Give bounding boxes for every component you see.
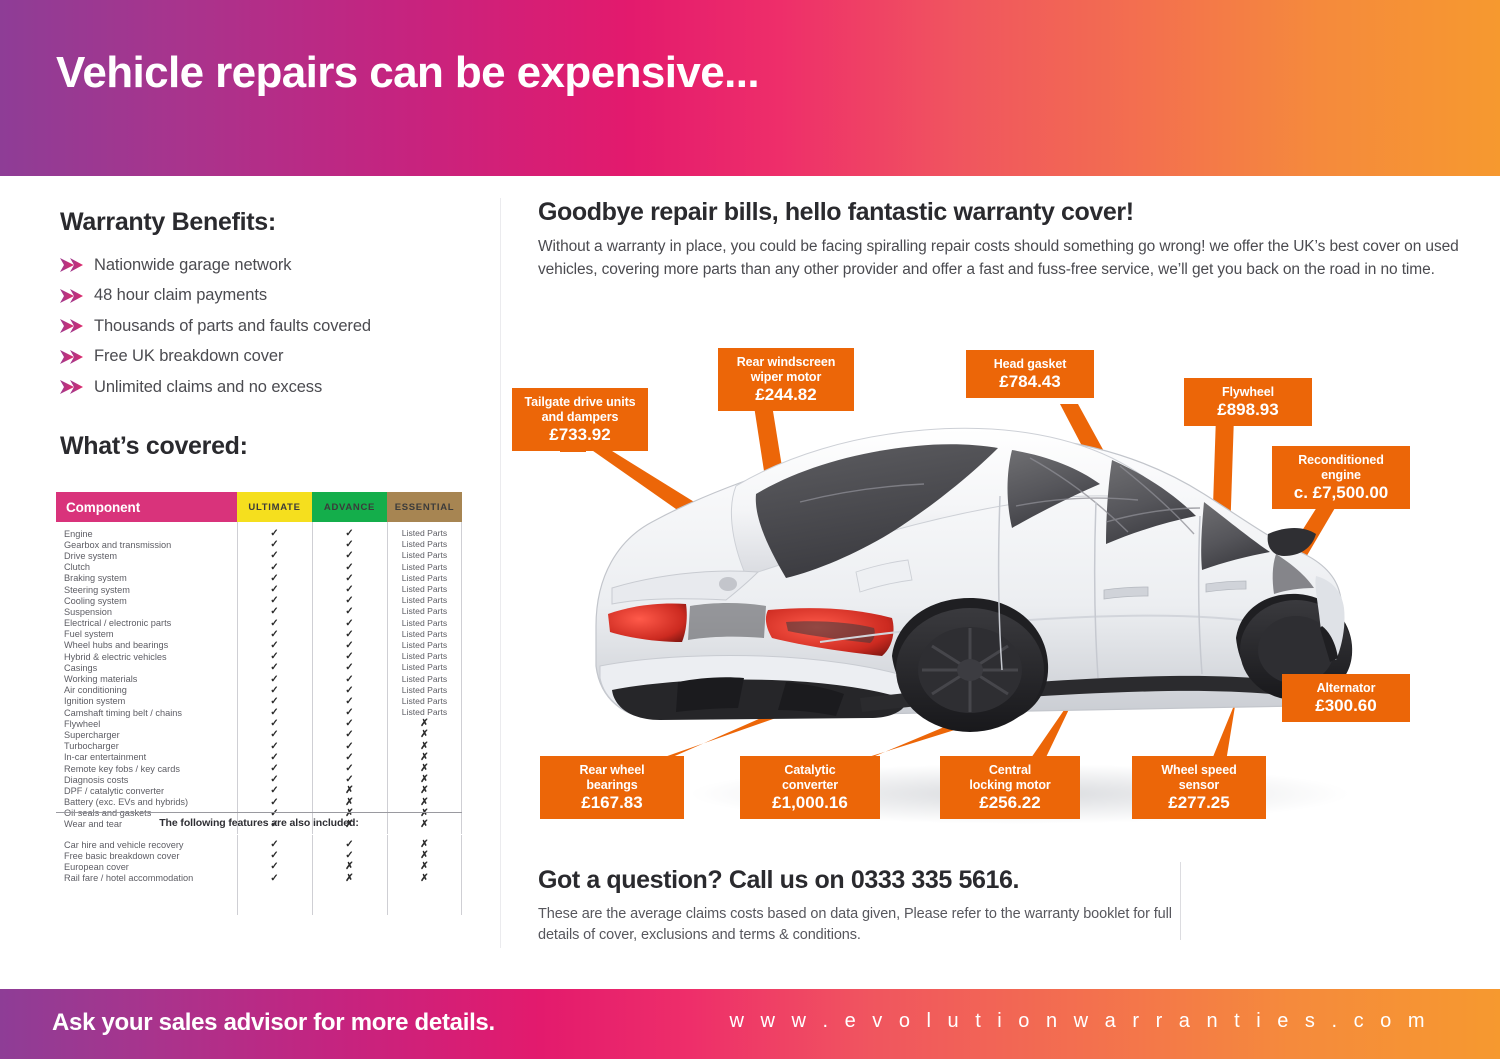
cell-component: Working materials — [56, 674, 237, 684]
cell-essential: Listed Parts — [387, 539, 462, 550]
callout-flywheel[interactable]: Flywheel£898.93 — [1184, 378, 1312, 426]
cell-ultimate: ✓ — [237, 629, 312, 640]
callout-head-gasket[interactable]: Head gasket£784.43 — [966, 350, 1094, 398]
callout-label-line: locking motor — [969, 778, 1050, 792]
warranty-benefits-heading: Warranty Benefits: — [60, 208, 276, 237]
benefit-item: Free UK breakdown cover — [58, 342, 478, 373]
warranty-benefits-list: Nationwide garage network48 hour claim p… — [58, 250, 478, 403]
cell-ultimate: ✓ — [237, 785, 312, 796]
benefit-item: Nationwide garage network — [58, 250, 478, 281]
callout-wheel-speed-sensor[interactable]: Wheel speedsensor£277.25 — [1132, 756, 1266, 819]
coverage-table: Component ULTIMATE ADVANCE ESSENTIAL Eng… — [56, 492, 462, 830]
table-row: Supercharger✓✓✗ — [56, 729, 462, 740]
cell-ultimate: ✓ — [237, 850, 312, 861]
cell-component: Steering system — [56, 585, 237, 595]
cell-advance: ✓ — [312, 774, 387, 785]
cell-ultimate: ✓ — [237, 729, 312, 740]
cell-essential: Listed Parts — [387, 550, 462, 561]
table-row: Steering system✓✓Listed Parts — [56, 584, 462, 595]
cell-advance: ✓ — [312, 662, 387, 673]
table-row: Air conditioning✓✓Listed Parts — [56, 685, 462, 696]
table-section-separator — [56, 812, 462, 813]
callout-label-line: Reconditioned — [1298, 453, 1384, 467]
table-divider — [461, 522, 462, 834]
cell-advance: ✓ — [312, 562, 387, 573]
cell-component: Casings — [56, 663, 237, 673]
cell-ultimate: ✓ — [237, 696, 312, 707]
table-divider — [312, 522, 313, 834]
cell-component: Fuel system — [56, 629, 237, 639]
column-header-essential: ESSENTIAL — [387, 492, 462, 522]
cell-component: Turbocharger — [56, 741, 237, 751]
also-included-title: The following features are also included… — [56, 817, 462, 829]
callout-rear-wheel-bearings[interactable]: Rear wheelbearings£167.83 — [540, 756, 684, 819]
callout-amount: £733.92 — [524, 427, 636, 442]
cell-ultimate: ✓ — [237, 550, 312, 561]
cell-component: Camshaft timing belt / chains — [56, 708, 237, 718]
cell-essential: ✗ — [387, 763, 462, 774]
table-row: European cover✓✗✗ — [56, 861, 462, 872]
benefit-label: Nationwide garage network — [94, 256, 291, 275]
cell-essential: ✗ — [387, 741, 462, 752]
chevron-right-icon — [58, 288, 84, 304]
cell-component: Engine — [56, 529, 237, 539]
cell-advance: ✓ — [312, 685, 387, 696]
cell-component: Flywheel — [56, 719, 237, 729]
callout-label-line: and dampers — [542, 410, 619, 424]
cell-essential: Listed Parts — [387, 562, 462, 573]
cell-component: Gearbox and transmission — [56, 540, 237, 550]
callout-catalytic-converter[interactable]: Catalyticconverter£1,000.16 — [740, 756, 880, 819]
table-row: Working materials✓✓Listed Parts — [56, 673, 462, 684]
callout-alternator[interactable]: Alternator£300.60 — [1282, 674, 1410, 722]
cell-component: In-car entertainment — [56, 752, 237, 762]
callout-label-line: Rear wheel — [579, 763, 644, 777]
cell-ultimate: ✓ — [237, 651, 312, 662]
goodbye-heading: Goodbye repair bills, hello fantastic wa… — [538, 198, 1134, 227]
cell-essential: Listed Parts — [387, 662, 462, 673]
benefit-label: Free UK breakdown cover — [94, 347, 283, 366]
table-row: Ignition system✓✓Listed Parts — [56, 696, 462, 707]
cell-advance: ✓ — [312, 718, 387, 729]
table-row: Turbocharger✓✓✗ — [56, 741, 462, 752]
cell-component: Ignition system — [56, 696, 237, 706]
cell-essential: ✗ — [387, 785, 462, 796]
cell-ultimate: ✓ — [237, 718, 312, 729]
cell-advance: ✓ — [312, 606, 387, 617]
cell-component: Electrical / electronic parts — [56, 618, 237, 628]
cell-component: Free basic breakdown cover — [56, 851, 237, 861]
coverage-table-header-row: Component ULTIMATE ADVANCE ESSENTIAL — [56, 492, 462, 522]
chevron-right-icon — [58, 379, 84, 395]
table-divider — [237, 522, 238, 834]
car-illustration — [500, 326, 1500, 1016]
cell-essential: Listed Parts — [387, 595, 462, 606]
callout-label-line: Tailgate drive units — [525, 395, 636, 409]
coverage-table-body: Engine✓✓Listed PartsGearbox and transmis… — [56, 522, 462, 830]
cell-component: Diagnosis costs — [56, 775, 237, 785]
cell-advance: ✓ — [312, 752, 387, 763]
cell-essential: Listed Parts — [387, 707, 462, 718]
cell-component: Cooling system — [56, 596, 237, 606]
cell-advance: ✓ — [312, 550, 387, 561]
cell-ultimate: ✓ — [237, 752, 312, 763]
cell-essential: ✗ — [387, 752, 462, 763]
cell-ultimate: ✓ — [237, 873, 312, 884]
cell-advance: ✓ — [312, 595, 387, 606]
cell-ultimate: ✓ — [237, 595, 312, 606]
cell-essential: ✗ — [387, 729, 462, 740]
table-row: Flywheel✓✓✗ — [56, 718, 462, 729]
cell-component: European cover — [56, 862, 237, 872]
car-diagram-stage: Tailgate drive unitsand dampers£733.92 R… — [500, 326, 1500, 1016]
table-row: Battery (exc. EVs and hybrids)✓✗✗ — [56, 797, 462, 808]
cell-advance: ✓ — [312, 629, 387, 640]
cell-essential: Listed Parts — [387, 674, 462, 685]
benefit-item: Thousands of parts and faults covered — [58, 311, 478, 342]
cell-ultimate: ✓ — [237, 573, 312, 584]
cell-ultimate: ✓ — [237, 662, 312, 673]
table-row: Remote key fobs / key cards✓✓✗ — [56, 763, 462, 774]
chevron-right-icon — [58, 257, 84, 273]
cell-ultimate: ✓ — [237, 741, 312, 752]
footer-sales-advisor-text: Ask your sales advisor for more details. — [52, 1009, 495, 1037]
callout-label-line: engine — [1321, 468, 1361, 482]
cell-component: Clutch — [56, 562, 237, 572]
cell-ultimate: ✓ — [237, 584, 312, 595]
cell-advance: ✓ — [312, 674, 387, 685]
cell-essential: ✗ — [387, 718, 462, 729]
callout-label-line: converter — [782, 778, 838, 792]
cell-advance: ✓ — [312, 763, 387, 774]
cell-essential: ✗ — [387, 861, 462, 872]
cell-component: Rail fare / hotel accommodation — [56, 873, 237, 883]
callout-rear-windscreen-wiper-motor[interactable]: Rear windscreenwiper motor£244.82 — [718, 348, 854, 411]
callout-label-line: sensor — [1179, 778, 1219, 792]
also-included-table-body: Car hire and vehicle recovery✓✓✗Free bas… — [56, 835, 462, 884]
cell-ultimate: ✓ — [237, 539, 312, 550]
benefit-label: Unlimited claims and no excess — [94, 378, 322, 397]
cell-essential: Listed Parts — [387, 685, 462, 696]
cell-component: Air conditioning — [56, 685, 237, 695]
callout-label-line: Flywheel — [1222, 385, 1274, 399]
cell-essential: ✗ — [387, 774, 462, 785]
cell-component: Drive system — [56, 551, 237, 561]
table-divider — [387, 522, 388, 834]
table-row: Braking system✓✓Listed Parts — [56, 573, 462, 584]
goodbye-body-text: Without a warranty in place, you could b… — [538, 236, 1463, 281]
cell-essential: ✗ — [387, 797, 462, 808]
table-row: Wheel hubs and bearings✓✓Listed Parts — [56, 640, 462, 651]
table-divider — [237, 835, 238, 915]
cell-advance: ✓ — [312, 696, 387, 707]
table-row: Engine✓✓Listed Parts — [56, 528, 462, 539]
cell-component: Suspension — [56, 607, 237, 617]
table-row: Fuel system✓✓Listed Parts — [56, 629, 462, 640]
table-row: Clutch✓✓Listed Parts — [56, 562, 462, 573]
cell-advance: ✓ — [312, 539, 387, 550]
callout-amount: £1,000.16 — [752, 795, 868, 810]
table-row: Rail fare / hotel accommodation✓✗✗ — [56, 873, 462, 884]
cell-essential: ✗ — [387, 850, 462, 861]
table-row: DPF / catalytic converter✓✗✗ — [56, 785, 462, 796]
cell-essential: Listed Parts — [387, 606, 462, 617]
chevron-right-icon — [58, 349, 84, 365]
benefit-item: 48 hour claim payments — [58, 281, 478, 312]
also-included-table: Car hire and vehicle recovery✓✓✗Free bas… — [56, 835, 462, 884]
callout-label-line: Head gasket — [994, 357, 1067, 371]
cell-component: Braking system — [56, 573, 237, 583]
cell-essential: Listed Parts — [387, 618, 462, 629]
cell-advance: ✓ — [312, 729, 387, 740]
cell-essential: Listed Parts — [387, 696, 462, 707]
cell-ultimate: ✓ — [237, 618, 312, 629]
cell-ultimate: ✓ — [237, 674, 312, 685]
table-row: Diagnosis costs✓✓✗ — [56, 774, 462, 785]
callout-label-line: Rear windscreen — [737, 355, 836, 369]
callout-tailgate-drive-units[interactable]: Tailgate drive unitsand dampers£733.92 — [512, 388, 648, 451]
table-row: Free basic breakdown cover✓✓✗ — [56, 850, 462, 861]
callout-label-line: wiper motor — [751, 370, 821, 384]
cell-advance: ✗ — [312, 785, 387, 796]
cell-ultimate: ✓ — [237, 797, 312, 808]
callout-amount: £300.60 — [1294, 698, 1398, 713]
cell-ultimate: ✓ — [237, 774, 312, 785]
cell-advance: ✓ — [312, 651, 387, 662]
cell-component: Supercharger — [56, 730, 237, 740]
column-header-component: Component — [56, 492, 237, 522]
column-header-ultimate: ULTIMATE — [237, 492, 312, 522]
page-title: Vehicle repairs can be expensive... — [56, 48, 759, 98]
whats-covered-heading: What’s covered: — [60, 432, 248, 461]
left-column: Warranty Benefits: Nationwide garage net… — [0, 176, 500, 989]
callout-central-locking-motor[interactable]: Centrallocking motor£256.22 — [940, 756, 1080, 819]
column-header-advance: ADVANCE — [312, 492, 387, 522]
callout-amount: £244.82 — [730, 387, 842, 402]
callout-amount: £898.93 — [1196, 402, 1300, 417]
cell-component: Hybrid & electric vehicles — [56, 652, 237, 662]
cell-advance: ✗ — [312, 873, 387, 884]
cell-advance: ✗ — [312, 797, 387, 808]
cell-essential: ✗ — [387, 839, 462, 850]
cell-ultimate: ✓ — [237, 707, 312, 718]
cell-essential: ✗ — [387, 873, 462, 884]
table-row: Cooling system✓✓Listed Parts — [56, 595, 462, 606]
cell-advance: ✓ — [312, 618, 387, 629]
callout-label-line: Wheel speed — [1161, 763, 1236, 777]
cell-advance: ✓ — [312, 839, 387, 850]
callout-reconditioned-engine[interactable]: Reconditionedenginec. £7,500.00 — [1272, 446, 1410, 509]
chevron-right-icon — [58, 318, 84, 334]
cell-ultimate: ✓ — [237, 685, 312, 696]
table-row: Camshaft timing belt / chains✓✓Listed Pa… — [56, 707, 462, 718]
cell-ultimate: ✓ — [237, 763, 312, 774]
cell-advance: ✓ — [312, 584, 387, 595]
table-row: Suspension✓✓Listed Parts — [56, 606, 462, 617]
callout-amount: c. £7,500.00 — [1284, 485, 1398, 500]
callout-amount: £277.25 — [1144, 795, 1254, 810]
benefit-label: 48 hour claim payments — [94, 286, 267, 305]
callout-amount: £167.83 — [552, 795, 672, 810]
table-row: Casings✓✓Listed Parts — [56, 662, 462, 673]
cell-advance: ✓ — [312, 528, 387, 539]
cell-essential: Listed Parts — [387, 573, 462, 584]
callout-label-line: Alternator — [1317, 681, 1376, 695]
cell-component: Battery (exc. EVs and hybrids) — [56, 797, 237, 807]
cell-component: DPF / catalytic converter — [56, 786, 237, 796]
cell-ultimate: ✓ — [237, 640, 312, 651]
table-row: In-car entertainment✓✓✗ — [56, 752, 462, 763]
table-row: Hybrid & electric vehicles✓✓Listed Parts — [56, 651, 462, 662]
cell-ultimate: ✓ — [237, 528, 312, 539]
callout-amount: £256.22 — [952, 795, 1068, 810]
callout-amount: £784.43 — [978, 374, 1082, 389]
cell-advance: ✓ — [312, 640, 387, 651]
table-row: Drive system✓✓Listed Parts — [56, 550, 462, 561]
cell-component: Wheel hubs and bearings — [56, 640, 237, 650]
table-divider — [461, 835, 462, 915]
cell-essential: Listed Parts — [387, 528, 462, 539]
callout-label-line: Central — [989, 763, 1031, 777]
callout-label-line: Catalytic — [784, 763, 835, 777]
table-divider — [387, 835, 388, 915]
cell-component: Remote key fobs / key cards — [56, 764, 237, 774]
cell-advance: ✓ — [312, 741, 387, 752]
cell-essential: Listed Parts — [387, 584, 462, 595]
cell-component: Car hire and vehicle recovery — [56, 840, 237, 850]
cell-ultimate: ✓ — [237, 606, 312, 617]
cell-essential: Listed Parts — [387, 629, 462, 640]
benefit-label: Thousands of parts and faults covered — [94, 317, 371, 336]
cell-advance: ✓ — [312, 707, 387, 718]
cell-advance: ✗ — [312, 861, 387, 872]
benefit-item: Unlimited claims and no excess — [58, 372, 478, 403]
cell-essential: Listed Parts — [387, 640, 462, 651]
table-row: Gearbox and transmission✓✓Listed Parts — [56, 539, 462, 550]
cell-advance: ✓ — [312, 573, 387, 584]
cell-ultimate: ✓ — [237, 839, 312, 850]
cell-essential: Listed Parts — [387, 651, 462, 662]
right-column: Goodbye repair bills, hello fantastic wa… — [500, 176, 1500, 989]
table-divider — [312, 835, 313, 915]
table-row: Electrical / electronic parts✓✓Listed Pa… — [56, 618, 462, 629]
cell-ultimate: ✓ — [237, 562, 312, 573]
cell-advance: ✓ — [312, 850, 387, 861]
callout-label-line: bearings — [586, 778, 637, 792]
table-row: Car hire and vehicle recovery✓✓✗ — [56, 839, 462, 850]
cell-ultimate: ✓ — [237, 861, 312, 872]
